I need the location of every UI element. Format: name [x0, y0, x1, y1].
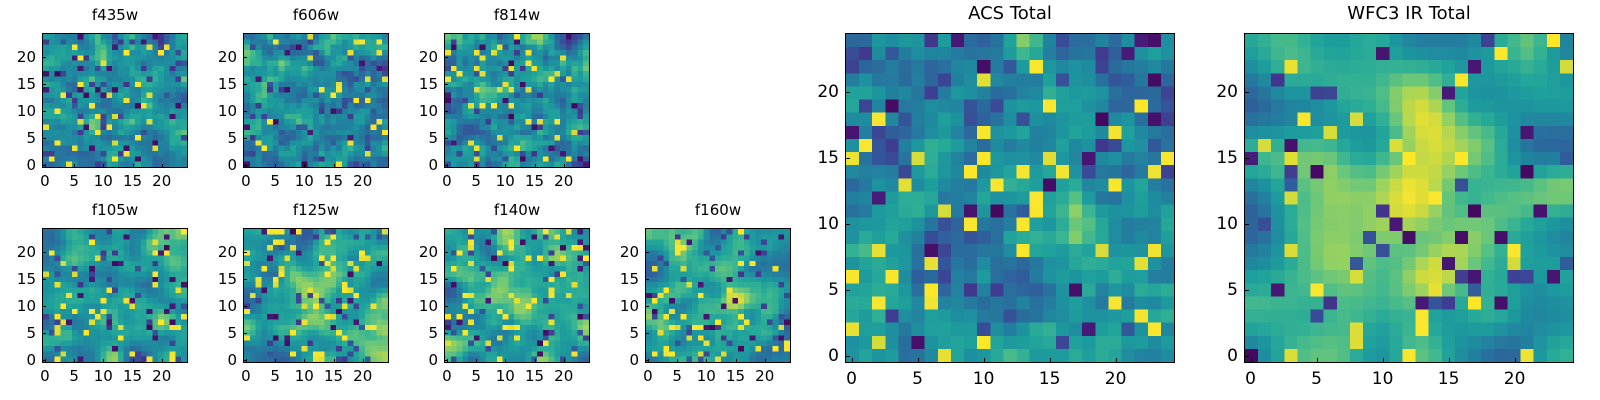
y-tick — [1244, 356, 1249, 357]
x-tick — [1449, 358, 1450, 363]
x-tick-label: 5 — [1287, 369, 1347, 389]
y-tick-label: 0 — [1178, 346, 1238, 366]
y-tick — [1244, 224, 1249, 225]
x-tick — [1317, 358, 1318, 363]
heatmap-image — [1244, 33, 1574, 363]
figure-canvas: f435w0510152005101520f606w05101520051015… — [0, 0, 1600, 400]
y-tick-label: 10 — [1178, 214, 1238, 234]
x-tick-label: 0 — [1221, 369, 1281, 389]
x-tick-label: 15 — [1419, 369, 1479, 389]
y-tick — [1244, 290, 1249, 291]
x-tick — [1251, 358, 1252, 363]
y-tick-label: 20 — [1178, 82, 1238, 102]
x-tick — [1515, 358, 1516, 363]
x-tick-label: 20 — [1485, 369, 1545, 389]
y-tick — [1244, 92, 1249, 93]
y-tick-label: 5 — [1178, 280, 1238, 300]
y-tick — [1244, 158, 1249, 159]
panel-title: WFC3 IR Total — [1244, 3, 1574, 24]
y-tick-label: 15 — [1178, 148, 1238, 168]
panel-wfc3-ir-total: WFC3 IR Total0510152005101520 — [0, 0, 1600, 400]
x-tick-label: 10 — [1353, 369, 1413, 389]
x-tick — [1383, 358, 1384, 363]
